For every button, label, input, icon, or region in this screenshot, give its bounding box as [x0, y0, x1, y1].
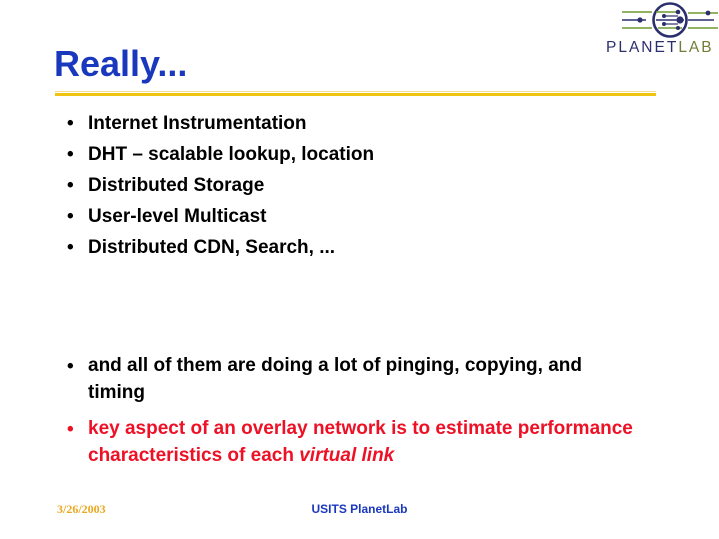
wordmark-planet: PLANET — [606, 39, 678, 56]
list-item-label: DHT – scalable lookup, location — [88, 144, 374, 165]
list-item-label: Distributed Storage — [88, 175, 264, 196]
bullet-glyph: • — [67, 415, 74, 445]
list-item: • Internet Instrumentation — [60, 109, 680, 139]
list-item-label: User-level Multicast — [88, 206, 266, 227]
list-item: • and all of them are doing a lot of pin… — [60, 352, 608, 406]
bullet-group-spacer — [60, 264, 680, 352]
list-item: • Distributed Storage — [60, 171, 680, 201]
footer-title-label: USITS PlanetLab — [311, 502, 407, 516]
list-item-label: Distributed CDN, Search, ... — [88, 237, 335, 258]
footer-title: USITS PlanetLab — [0, 501, 719, 517]
planetlab-logo: PLANETLAB — [604, 2, 719, 58]
divider-line-thin — [55, 91, 656, 92]
bullet-glyph: • — [67, 233, 74, 263]
list-item-emphasis: • key aspect of an overlay network is to… — [60, 415, 668, 469]
slide-title: Really... — [54, 43, 187, 85]
list-item: • DHT – scalable lookup, location — [60, 140, 680, 170]
planetlab-network-icon — [622, 2, 718, 38]
bullet-glyph: • — [67, 171, 74, 201]
slide-canvas: PLANETLAB Really... • Internet Instrumen… — [0, 0, 719, 539]
bullet-glyph: • — [67, 202, 74, 232]
bullet-glyph: • — [67, 352, 74, 382]
divider-line-thick — [55, 93, 656, 96]
list-item-label: and all of them are doing a lot of pingi… — [88, 355, 582, 403]
title-divider — [55, 91, 656, 96]
list-item-label-italic: virtual link — [299, 445, 394, 466]
bullet-glyph: • — [67, 109, 74, 139]
list-item: • User-level Multicast — [60, 202, 680, 232]
bullet-list: • Internet Instrumentation • DHT – scala… — [60, 109, 680, 470]
planetlab-wordmark: PLANETLAB — [606, 38, 719, 58]
wordmark-lab: LAB — [678, 39, 713, 56]
list-item: • Distributed CDN, Search, ... — [60, 233, 680, 263]
list-item-label: Internet Instrumentation — [88, 113, 307, 134]
bullet-glyph: • — [67, 140, 74, 170]
